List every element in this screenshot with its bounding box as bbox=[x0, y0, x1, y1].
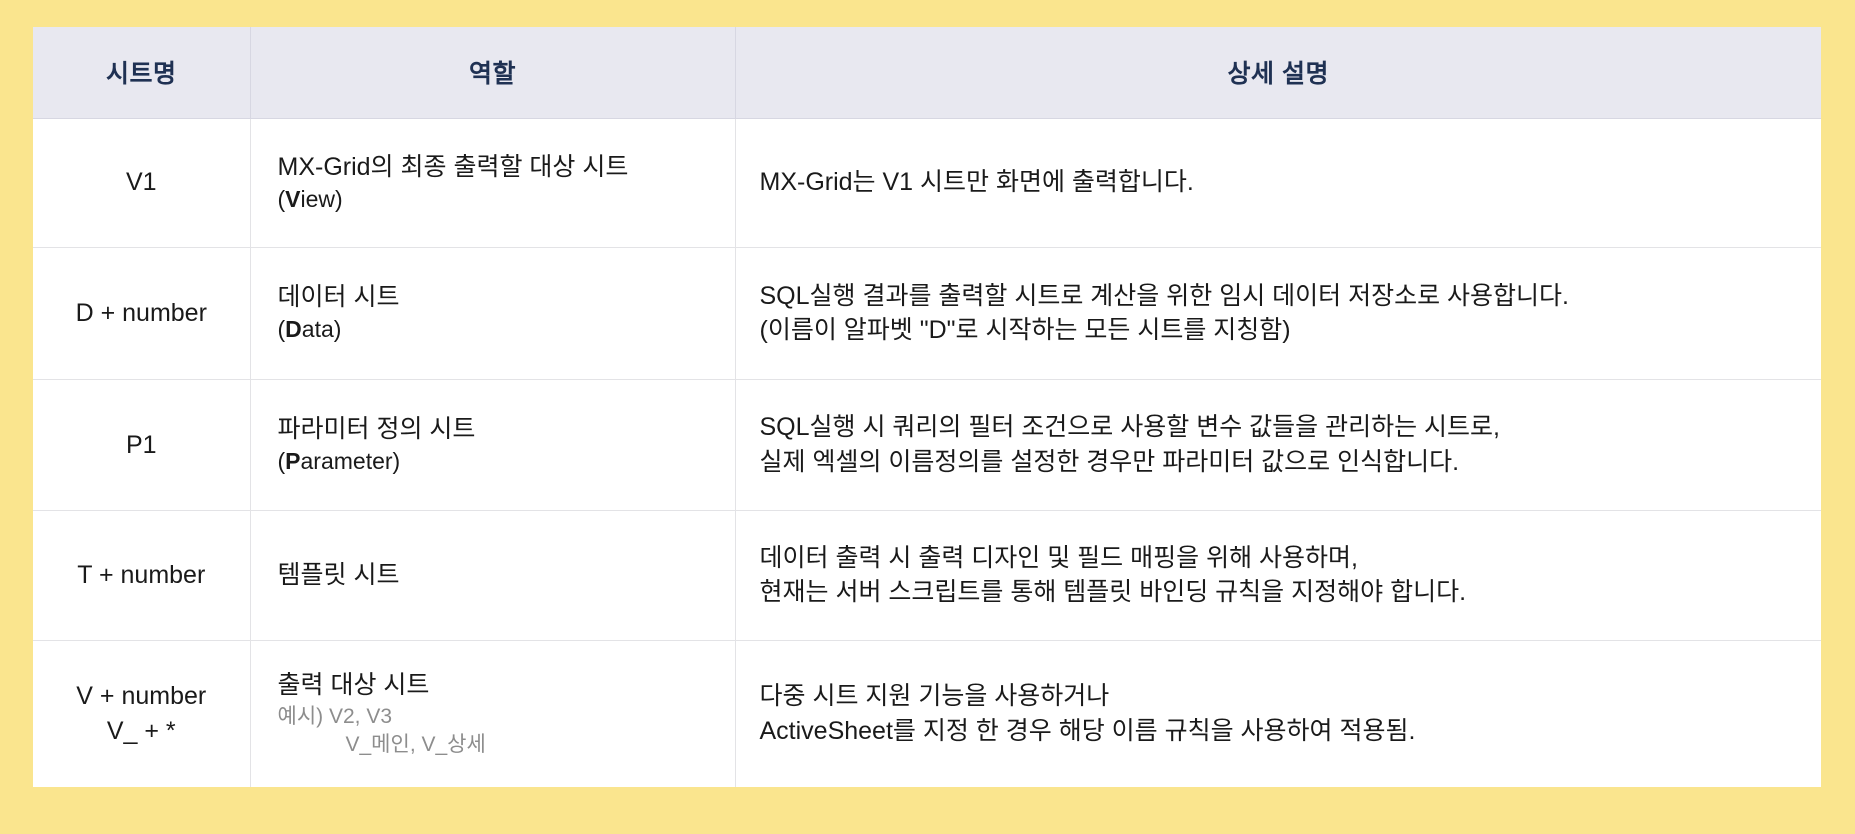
cell-sheet-name: V1 bbox=[33, 118, 250, 247]
column-header-description: 상세 설명 bbox=[735, 27, 1821, 118]
role-sub-initial: V bbox=[285, 186, 300, 212]
table-header: 시트명 역할 상세 설명 bbox=[33, 27, 1821, 118]
cell-description: 데이터 출력 시 출력 디자인 및 필드 매핑을 위해 사용하며, 현재는 서버… bbox=[735, 511, 1821, 640]
cell-sheet-name: T + number bbox=[33, 511, 250, 640]
role-sub-text: (View) bbox=[278, 184, 735, 214]
table-row: V + number V_ + * 출력 대상 시트 예시) V2, V3 V_… bbox=[33, 640, 1821, 787]
table-row: P1 파라미터 정의 시트 (Parameter) SQL실행 시 쿼리의 필터… bbox=[33, 379, 1821, 511]
role-example-line-2: V_메인, V_상세 bbox=[278, 731, 735, 758]
cell-role: 출력 대상 시트 예시) V2, V3 V_메인, V_상세 bbox=[250, 640, 735, 787]
cell-role: 파라미터 정의 시트 (Parameter) bbox=[250, 379, 735, 511]
cell-description: SQL실행 결과를 출력할 시트로 계산을 위한 임시 데이터 저장소로 사용합… bbox=[735, 247, 1821, 379]
role-main-text: 템플릿 시트 bbox=[278, 559, 735, 592]
cell-sheet-name: D + number bbox=[33, 247, 250, 379]
column-header-role: 역할 bbox=[250, 27, 735, 118]
column-header-sheet-name: 시트명 bbox=[33, 27, 250, 118]
role-example-line-1: 예시) V2, V3 bbox=[278, 705, 393, 728]
table-row: D + number 데이터 시트 (Data) SQL실행 결과를 출력할 시… bbox=[33, 247, 1821, 379]
role-main-text: 출력 대상 시트 bbox=[278, 669, 735, 702]
table-row: T + number 템플릿 시트 데이터 출력 시 출력 디자인 및 필드 매… bbox=[33, 511, 1821, 640]
cell-sheet-name: P1 bbox=[33, 379, 250, 511]
cell-role: MX-Grid의 최종 출력할 대상 시트 (View) bbox=[250, 118, 735, 247]
sheet-convention-table-container: 시트명 역할 상세 설명 V1 MX-Grid의 최종 출력할 대상 시트 (V… bbox=[33, 27, 1821, 787]
role-main-text: 파라미터 정의 시트 bbox=[278, 413, 735, 446]
role-sub-text: (Parameter) bbox=[278, 446, 735, 476]
sheet-convention-table: 시트명 역할 상세 설명 V1 MX-Grid의 최종 출력할 대상 시트 (V… bbox=[33, 27, 1821, 787]
cell-sheet-name: V + number V_ + * bbox=[33, 640, 250, 787]
cell-role: 템플릿 시트 bbox=[250, 511, 735, 640]
cell-role: 데이터 시트 (Data) bbox=[250, 247, 735, 379]
cell-description: SQL실행 시 쿼리의 필터 조건으로 사용할 변수 값들을 관리하는 시트로,… bbox=[735, 379, 1821, 511]
role-sub-text: (Data) bbox=[278, 314, 735, 344]
role-sub-rest: iew) bbox=[301, 186, 343, 212]
page-canvas: 시트명 역할 상세 설명 V1 MX-Grid의 최종 출력할 대상 시트 (V… bbox=[0, 0, 1855, 834]
table-row: V1 MX-Grid의 최종 출력할 대상 시트 (View) MX-Grid는… bbox=[33, 118, 1821, 247]
role-sub-initial: P bbox=[285, 448, 300, 474]
cell-description: 다중 시트 지원 기능을 사용하거나 ActiveSheet를 지정 한 경우 … bbox=[735, 640, 1821, 787]
table-header-row: 시트명 역할 상세 설명 bbox=[33, 27, 1821, 118]
role-main-text: 데이터 시트 bbox=[278, 281, 735, 314]
cell-description: MX-Grid는 V1 시트만 화면에 출력합니다. bbox=[735, 118, 1821, 247]
role-sub-rest: ata) bbox=[302, 316, 342, 342]
role-main-text: MX-Grid의 최종 출력할 대상 시트 bbox=[278, 151, 735, 184]
role-sub-rest: arameter) bbox=[301, 448, 401, 474]
table-body: V1 MX-Grid의 최종 출력할 대상 시트 (View) MX-Grid는… bbox=[33, 118, 1821, 787]
role-sub-initial: D bbox=[285, 316, 302, 342]
role-example: 예시) V2, V3 V_메인, V_상세 bbox=[278, 703, 735, 758]
